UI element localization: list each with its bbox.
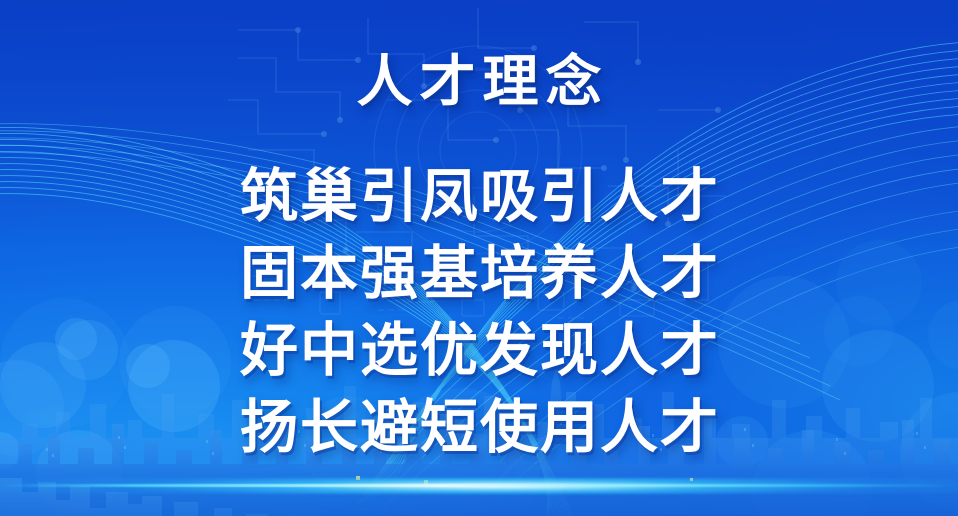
- slogan-line-3: 好中选优发现人才: [0, 312, 958, 389]
- slogan-line-4: 扬长避短使用人才: [0, 389, 958, 466]
- slogan-line-2: 固本强基培养人才: [0, 235, 958, 312]
- poster-canvas: 人才理念 筑巢引凤吸引人才 固本强基培养人才 好中选优发现人才 扬长避短使用人才: [0, 0, 958, 516]
- slogan-list: 筑巢引凤吸引人才 固本强基培养人才 好中选优发现人才 扬长避短使用人才: [0, 158, 958, 466]
- page-title: 人才理念: [0, 54, 958, 110]
- slogan-line-1: 筑巢引凤吸引人才: [0, 158, 958, 235]
- poster-content: 人才理念 筑巢引凤吸引人才 固本强基培养人才 好中选优发现人才 扬长避短使用人才: [0, 0, 958, 516]
